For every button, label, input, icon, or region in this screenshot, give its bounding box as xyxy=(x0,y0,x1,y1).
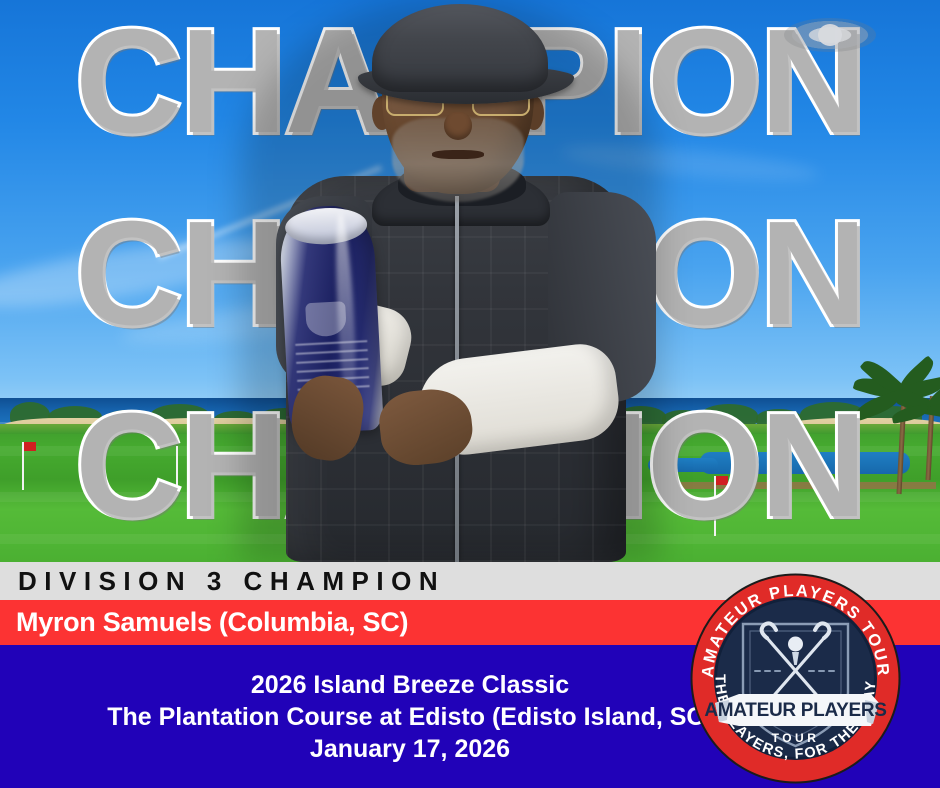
champion-photo: CHAMPION CHAMPION CHAMPION xyxy=(0,0,940,562)
logo-ribbon-text: AMATEUR PLAYERS xyxy=(704,700,886,721)
subject-mouth xyxy=(432,150,484,159)
golf-ball-icon xyxy=(788,637,803,652)
champion-poster: CHAMPION CHAMPION CHAMPION xyxy=(0,0,940,788)
champion-subject xyxy=(0,0,940,562)
cap-emblem-icon xyxy=(784,18,876,52)
division-title: DIVISION 3 CHAMPION xyxy=(0,568,445,594)
event-course: The Plantation Course at Edisto (Edisto … xyxy=(107,701,713,733)
logo-ribbon: AMATEUR PLAYERS xyxy=(704,694,886,726)
player-name: Myron Samuels (Columbia, SC) xyxy=(0,609,408,636)
amateur-players-tour-logo: AMATEUR PLAYERS TOUR BY THE PLAYERS, FOR… xyxy=(689,572,902,785)
event-name: 2026 Island Breeze Classic xyxy=(251,669,569,701)
event-date: January 17, 2026 xyxy=(310,733,510,765)
logo-ribbon-subtext: TOUR xyxy=(772,731,820,745)
